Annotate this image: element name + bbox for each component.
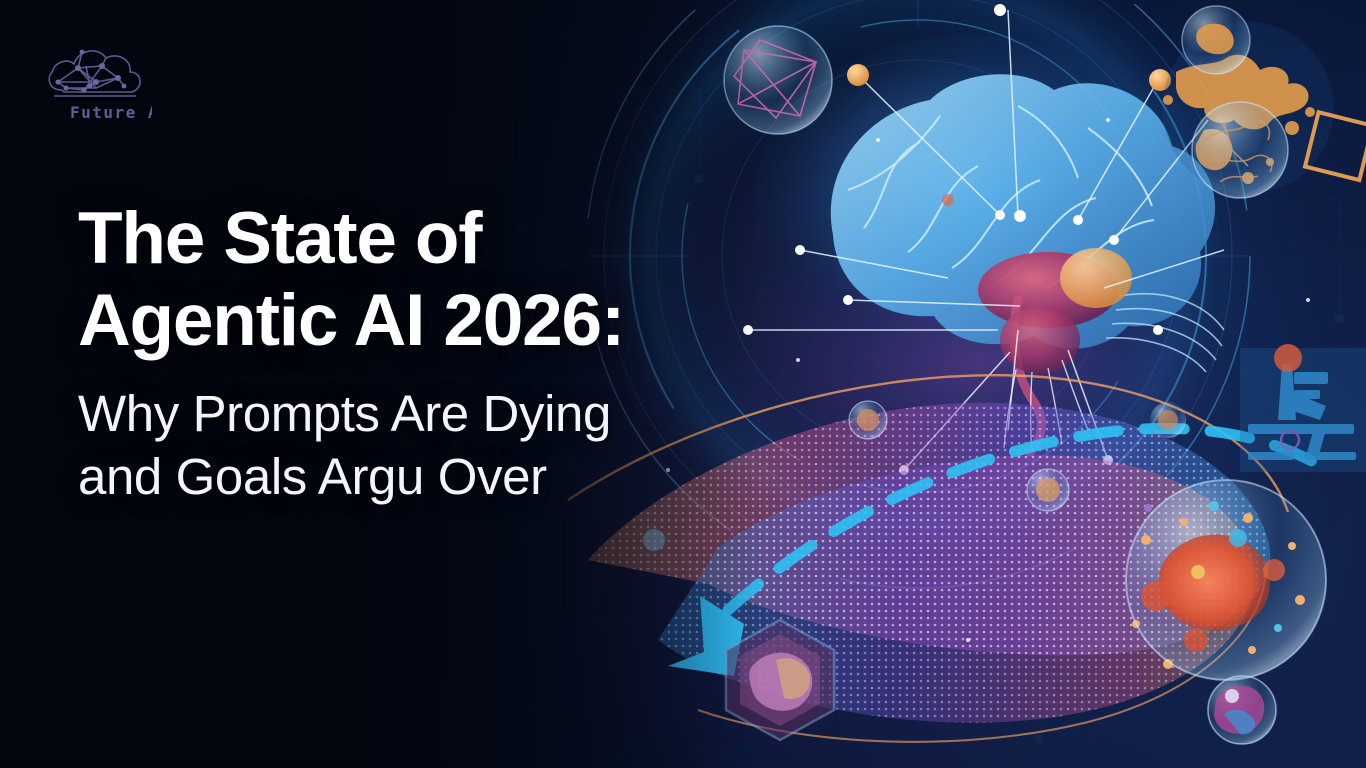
brand-name: Future AI (70, 103, 152, 122)
subheadline-line-2: and Goals Argu Over (78, 445, 778, 508)
blue-microscope-panel (1240, 344, 1366, 472)
headline-line-1: The State of (78, 198, 481, 279)
wireframe-polyhedron-sphere (724, 26, 832, 134)
pink-blue-marble-sphere (1208, 676, 1276, 744)
map-veins-sphere (1192, 102, 1288, 198)
subheadline-line-1: Why Prompts Are Dying (78, 385, 611, 442)
brand-logo[interactable]: Future AI (40, 38, 152, 130)
orange-blob-sphere (1182, 6, 1250, 74)
headline-block: The State of Agentic AI 2026: Why Prompt… (78, 198, 778, 508)
hero-banner: Future AI The State of Agentic AI 2026: … (0, 0, 1366, 768)
orange-cluster-sphere (1126, 480, 1326, 680)
headline-line-2: Agentic AI 2026: (78, 280, 778, 362)
page-subtitle: Why Prompts Are Dying and Goals Argu Ove… (78, 382, 778, 508)
page-title: The State of Agentic AI 2026: (78, 198, 778, 362)
cloud-network-icon (49, 51, 140, 96)
